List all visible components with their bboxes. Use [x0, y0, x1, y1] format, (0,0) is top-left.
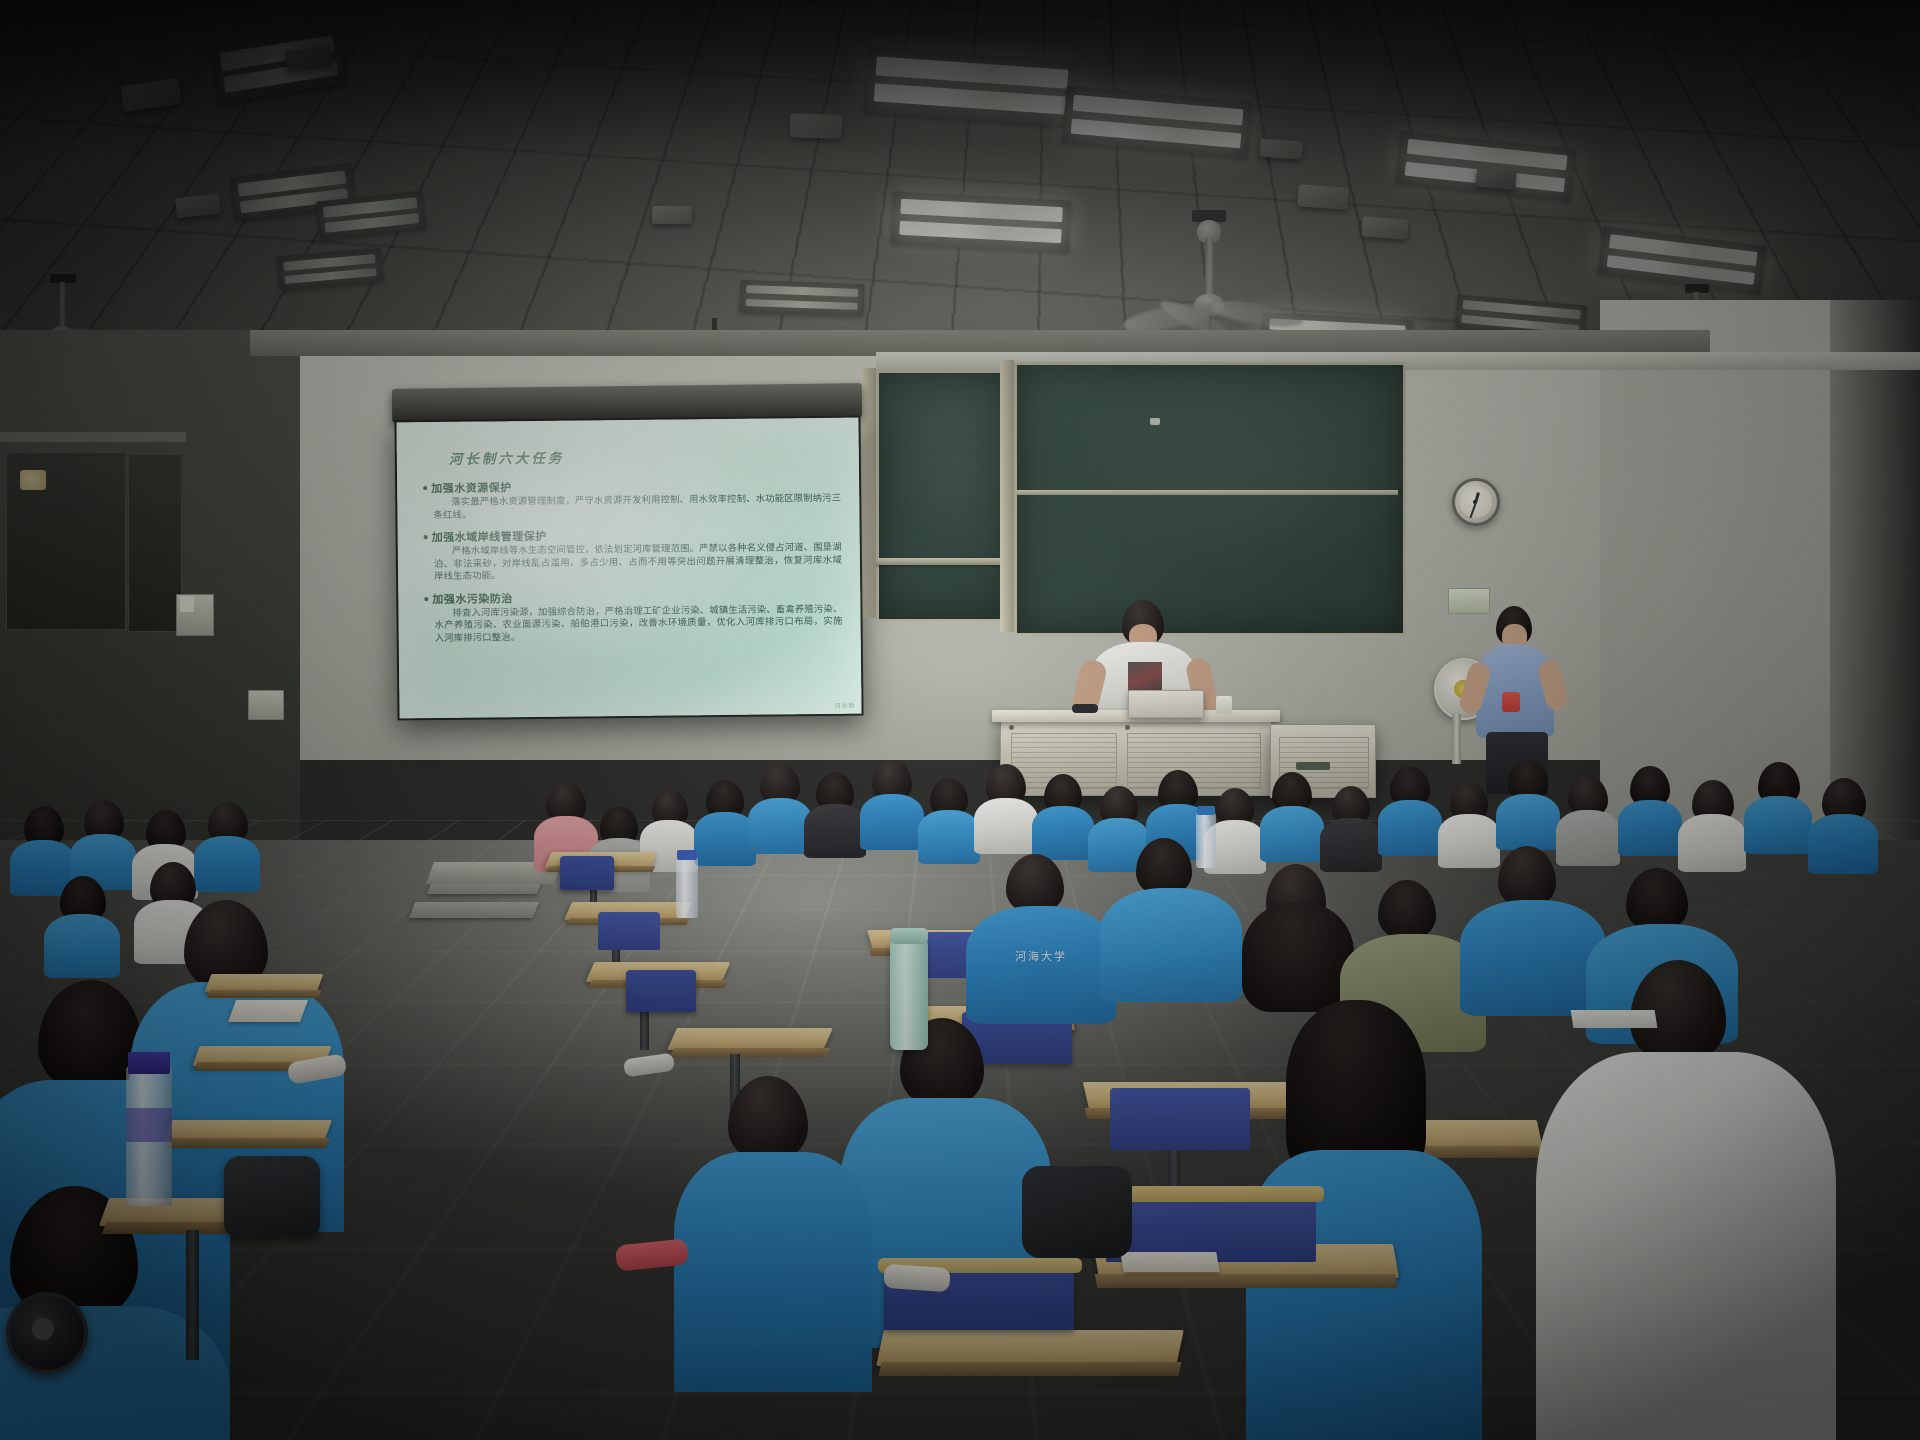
- student-body: [1496, 794, 1560, 850]
- student-desk: [1095, 1274, 1397, 1288]
- student-long-hair: [1242, 902, 1354, 1012]
- chalkboard-rail: [874, 558, 1010, 565]
- student-body: [1808, 814, 1878, 874]
- student-body: [804, 804, 866, 858]
- chalkboard-right: [1014, 362, 1406, 636]
- water-bottle: [676, 856, 698, 918]
- student-body: [194, 836, 260, 892]
- bottle-label: [126, 1108, 172, 1142]
- instructor-held-object: [1502, 692, 1520, 712]
- student-shirt: [674, 1152, 872, 1392]
- projection-screen: 河长制六大任务 加强水资源保护 落实最严格水资源管理制度，严守水资源开发利用控制…: [396, 418, 861, 719]
- student-body: [1678, 814, 1746, 872]
- student-body: [974, 798, 1038, 854]
- student-body: [1032, 806, 1094, 860]
- aisle-step: [409, 902, 539, 918]
- bottle-cap: [677, 850, 697, 860]
- left-window-header: [0, 432, 186, 442]
- student-desk: [166, 1138, 330, 1148]
- chalkboard-frame: [862, 368, 876, 618]
- student-chair[interactable]: [626, 970, 696, 1012]
- water-bottle: [1196, 812, 1216, 868]
- left-window-panel: [128, 454, 182, 632]
- bottle-cap: [128, 1052, 170, 1074]
- desk-leg: [186, 1230, 199, 1360]
- shirt-university-text: 河海大学: [992, 948, 1090, 964]
- floor-fan-pole: [1452, 714, 1461, 764]
- backpack: [224, 1156, 320, 1236]
- student-desk: [876, 1330, 1184, 1366]
- object-on-podium: [1072, 704, 1098, 713]
- laptop-on-podium: [1128, 690, 1204, 718]
- student-body: [1556, 810, 1620, 866]
- wall-outlet[interactable]: [248, 690, 284, 720]
- student-desk: [670, 1048, 830, 1057]
- paper-sheet: [1571, 1010, 1658, 1028]
- thermos: [890, 938, 928, 1050]
- student-body: [860, 794, 924, 850]
- screen-glow: [396, 418, 861, 719]
- chair-top-rail: [1100, 1186, 1324, 1202]
- backpack: [1022, 1166, 1132, 1258]
- wall-switch[interactable]: [180, 596, 194, 612]
- student-chair[interactable]: [560, 856, 614, 890]
- student-desk: [879, 1362, 1182, 1376]
- student-body: [918, 810, 980, 864]
- projection-screen-frame: 河长制六大任务 加强水资源保护 落实最严格水资源管理制度，严守水资源开发利用控制…: [394, 416, 863, 721]
- student-body: [44, 914, 120, 978]
- student-shirt: [1460, 900, 1606, 1016]
- classroom-photo: EPSON 河长制六大任务: [0, 0, 1920, 1440]
- student-chair[interactable]: [598, 912, 660, 950]
- student-chair[interactable]: [1110, 1088, 1250, 1150]
- student-body: [1438, 814, 1500, 868]
- chalkboard-frame: [1000, 360, 1014, 632]
- student-desk: [207, 990, 322, 998]
- wall-poster: [1448, 588, 1490, 614]
- student-body: [1378, 800, 1442, 856]
- notebook: [1120, 1252, 1220, 1272]
- student-shirt: [966, 906, 1116, 1024]
- notebook: [228, 1000, 308, 1022]
- chalkboard-left: [876, 370, 1014, 622]
- student-body: [1744, 796, 1812, 854]
- chalk-piece: [1150, 418, 1160, 425]
- lecture-podium: [1000, 718, 1272, 796]
- usb-desk-fan: [6, 1292, 88, 1374]
- cup-on-podium: [1216, 696, 1232, 714]
- student-shirt: [1100, 888, 1242, 1002]
- chalkboard-divider: [1016, 490, 1398, 495]
- wall-lamp: [20, 470, 46, 490]
- student-body: [748, 798, 812, 854]
- bottle-cap: [1197, 806, 1215, 815]
- student-shirt: [1536, 1052, 1836, 1440]
- student-body: [1320, 818, 1382, 872]
- student-desk: [667, 1028, 833, 1050]
- wall-clock: [1452, 478, 1500, 526]
- student-body: [1260, 806, 1324, 862]
- thermos-cap: [890, 928, 928, 944]
- student-body: [1618, 800, 1682, 856]
- marker-on-ledge: [1296, 762, 1330, 770]
- student-body: [694, 812, 756, 866]
- right-wall-shade: [1830, 300, 1920, 860]
- shoe: [883, 1264, 951, 1293]
